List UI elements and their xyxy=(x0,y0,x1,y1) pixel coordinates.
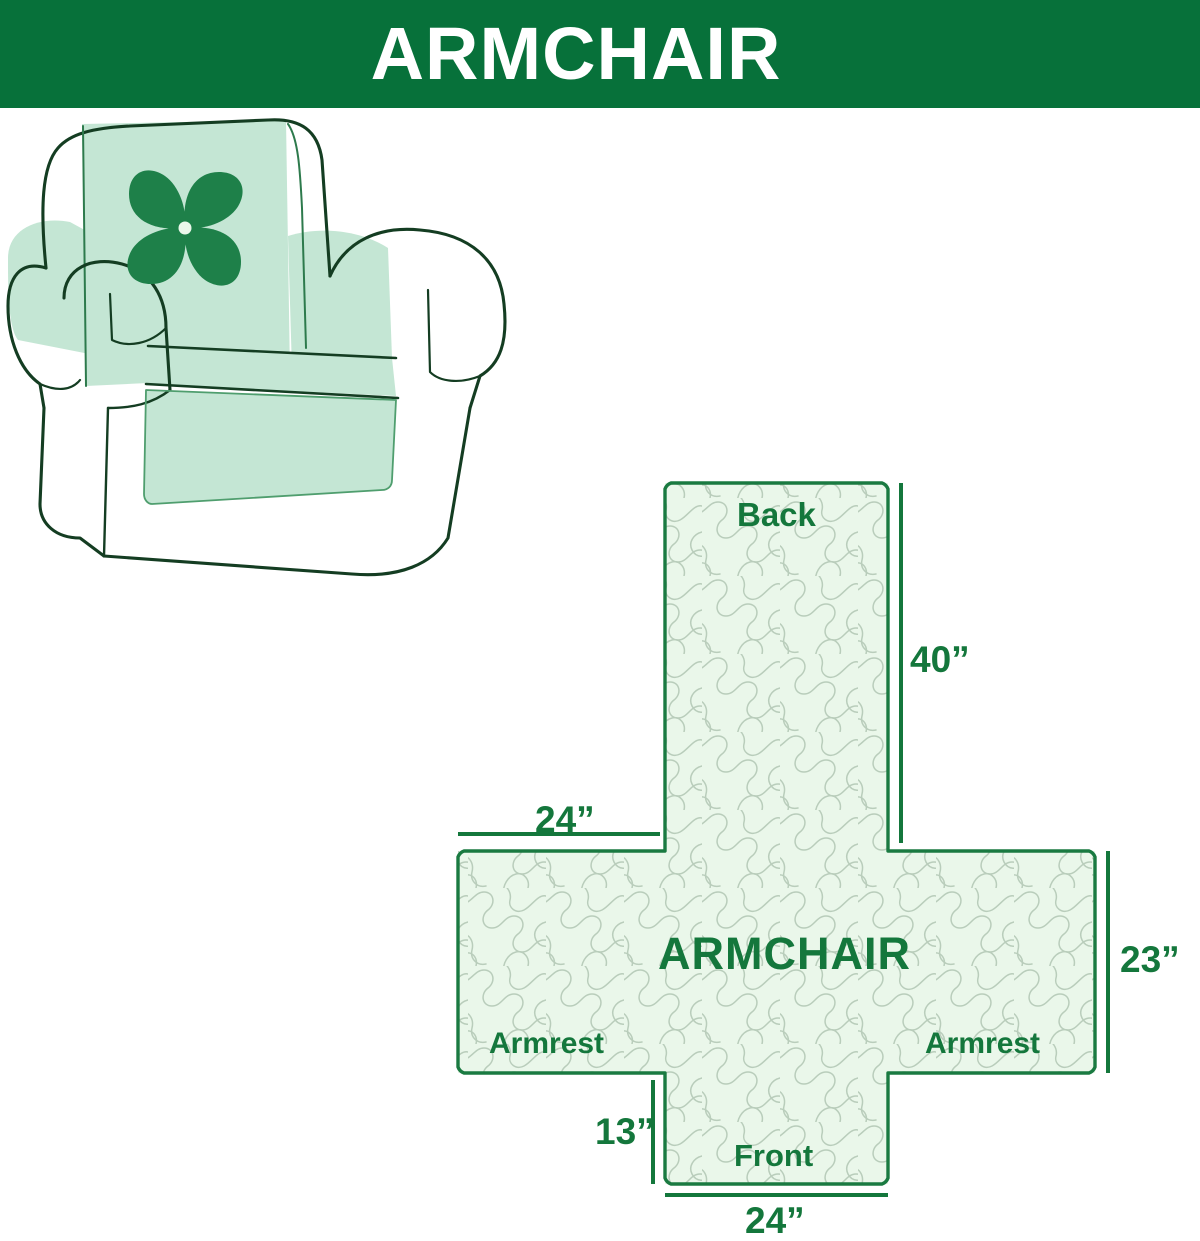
dimension-label-front-width: 24” xyxy=(745,1202,805,1239)
pattern-label-armrest-right: Armrest xyxy=(925,1029,1040,1059)
page-title: ARMCHAIR xyxy=(371,17,782,91)
pattern-label-armrest-left: Armrest xyxy=(489,1029,604,1059)
illustration-canvas: Back ARMCHAIR Armrest Armrest Front 40” … xyxy=(0,108,1200,1200)
pattern-label-back: Back xyxy=(737,498,816,531)
header-banner: ARMCHAIR xyxy=(0,0,1200,108)
dimension-label-armrest-width: 24” xyxy=(535,801,595,838)
dimension-label-back-length: 40” xyxy=(910,641,970,678)
dimension-label-front-depth: 13” xyxy=(595,1113,655,1150)
pattern-label-center: ARMCHAIR xyxy=(658,931,911,976)
dimension-label-center-height: 23” xyxy=(1120,941,1180,978)
pattern-label-front: Front xyxy=(734,1140,813,1171)
